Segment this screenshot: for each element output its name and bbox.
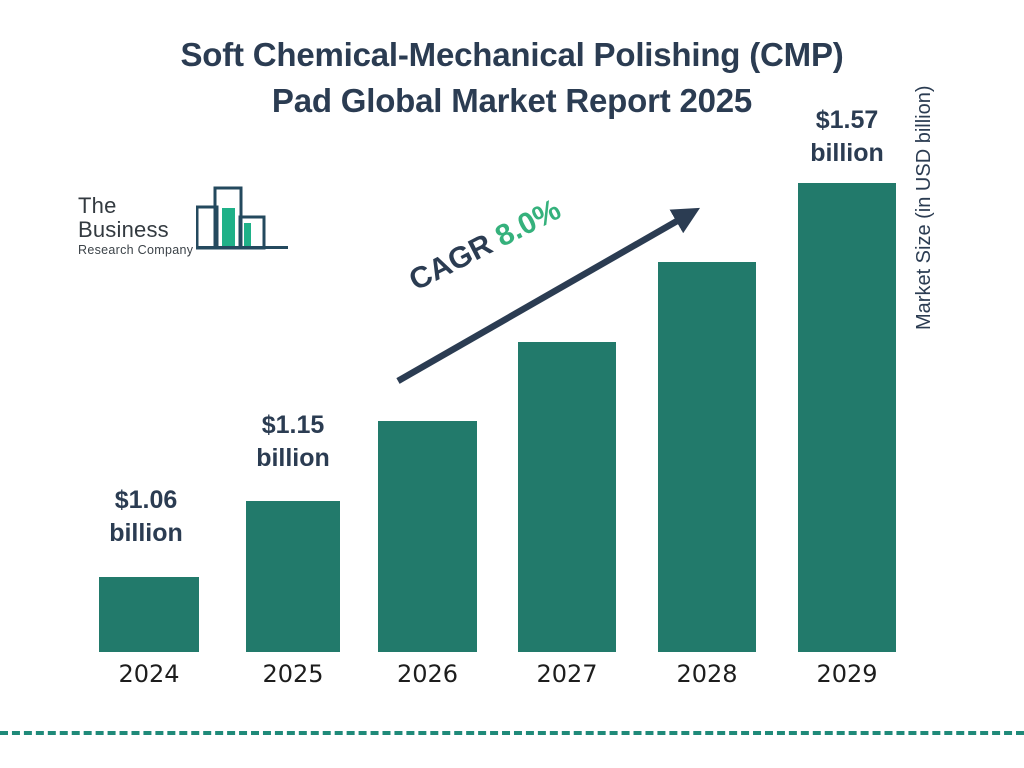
chart-page: Soft Chemical-Mechanical Polishing (CMP)… — [0, 0, 1024, 768]
x-axis-label-2027: 2027 — [518, 659, 616, 689]
x-axis-label-2024: 2024 — [99, 659, 199, 689]
bar-2028 — [658, 262, 756, 652]
value-callout-2029-unit: billion — [782, 137, 912, 170]
value-callout-2025-amount: $1.15 — [228, 409, 358, 442]
bar-2029 — [798, 183, 896, 652]
bar-2024 — [99, 577, 199, 652]
value-callout-2024-amount: $1.06 — [81, 484, 211, 517]
footer-divider — [0, 731, 1024, 735]
x-axis-label-2028: 2028 — [658, 659, 756, 689]
value-callout-2025: $1.15 billion — [228, 409, 358, 475]
x-axis-label-2025: 2025 — [246, 659, 340, 689]
x-axis-label-2026: 2026 — [378, 659, 477, 689]
bar-2027 — [518, 342, 616, 652]
bar-2025 — [246, 501, 340, 652]
value-callout-2025-unit: billion — [228, 442, 358, 475]
value-callout-2024-unit: billion — [81, 517, 211, 550]
y-axis-title: Market Size (in USD billion) — [912, 0, 936, 330]
bar-2026 — [378, 421, 477, 652]
value-callout-2024: $1.06 billion — [81, 484, 211, 550]
x-axis-label-2029: 2029 — [798, 659, 896, 689]
value-callout-2029: $1.57 billion — [782, 104, 912, 170]
value-callout-2029-amount: $1.57 — [782, 104, 912, 137]
